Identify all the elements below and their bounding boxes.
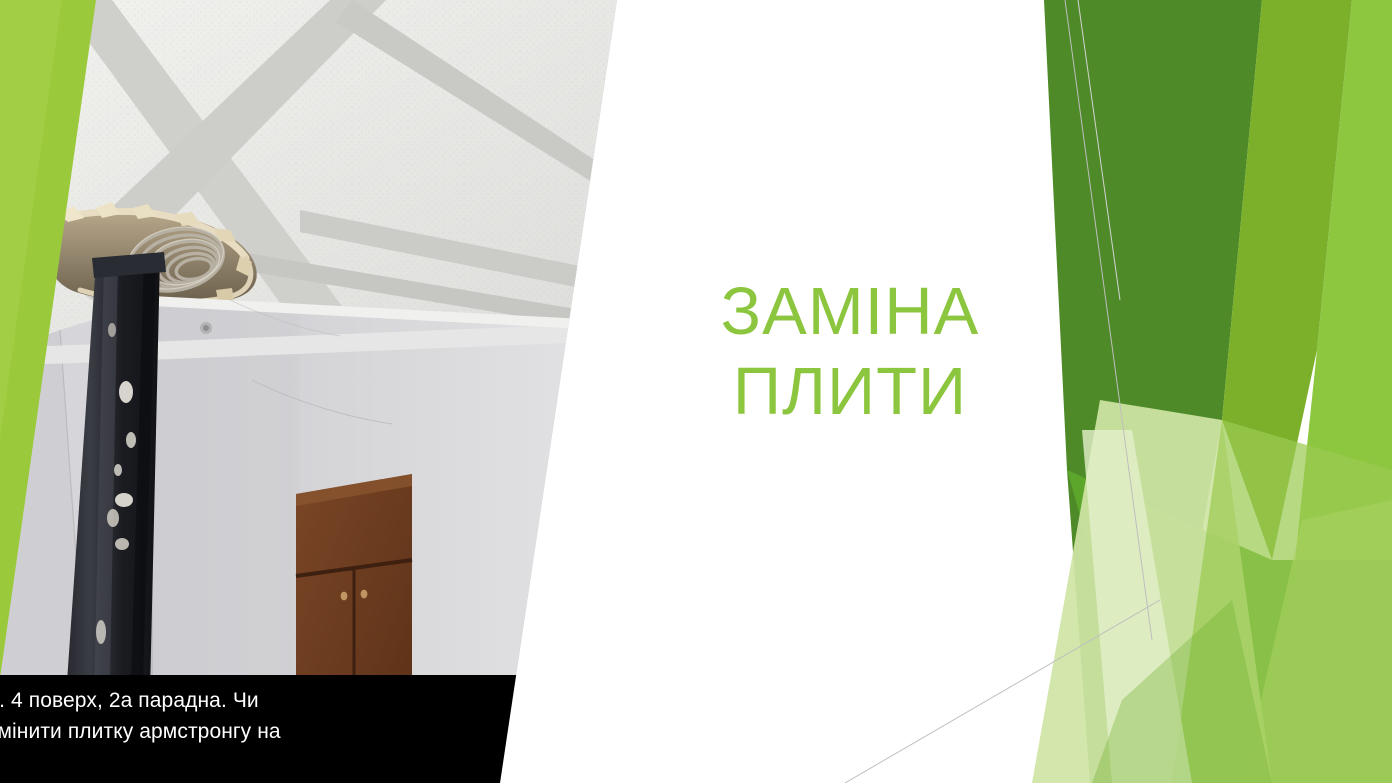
presentation-slide: ня. 4 поверх, 2а парадна. Чи замінити пл…	[0, 0, 1392, 783]
slide-title: ЗАМІНА ПЛИТИ	[640, 272, 1060, 492]
photo-illustration-svg	[0, 0, 640, 783]
caption-line-1: ня. 4 поверх, 2а парадна. Чи	[0, 685, 640, 716]
photo-caption-bar: ня. 4 поверх, 2а парадна. Чи замінити пл…	[0, 675, 640, 783]
caption-line-2: замінити плитку армстронгу на	[0, 716, 640, 747]
title-line-2: ПЛИТИ	[733, 352, 967, 432]
title-line-1: ЗАМІНА	[721, 272, 980, 352]
ceiling-damage-photo: ня. 4 поверх, 2а парадна. Чи замінити пл…	[0, 0, 640, 783]
photo-canvas	[0, 0, 640, 783]
